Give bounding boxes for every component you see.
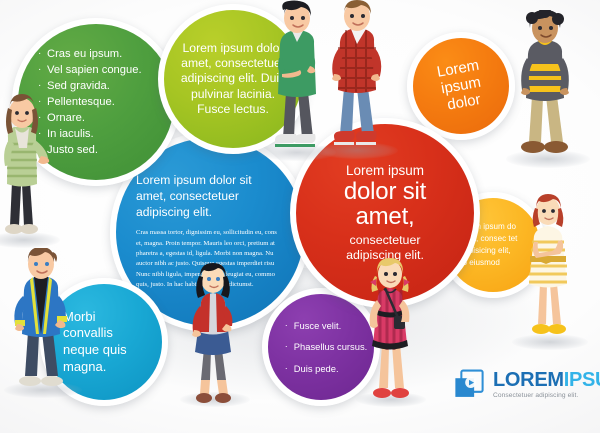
bullet-icon: · [38, 47, 42, 61]
character-boy-blue-jacket [6, 248, 76, 396]
bullet-icon: · [38, 63, 42, 77]
logo-word-first: LOREM [493, 369, 564, 391]
list-item: ·In iaculis. [38, 126, 166, 142]
list-item: ·Fusce velit. [285, 315, 367, 336]
bubble-red-line-2: dolor sit [310, 179, 460, 204]
bubble-cyan-line-1: Morbi [63, 309, 154, 326]
bubble-cyan-line-3: neque quis [63, 342, 154, 359]
character-boy-striped-sweater [508, 10, 582, 162]
character-girl-yellow-dress [516, 192, 580, 348]
character-girl-green-sweater [0, 86, 50, 238]
list-item-label: Pellentesque. [47, 96, 115, 108]
character-girl-pink-dress [358, 256, 422, 408]
bubble-cyan-line-2: convallis [63, 325, 154, 342]
character-boy-plaid-shirt [320, 0, 392, 154]
brand-logo[interactable]: LOREMIPSUM Consectetuer adipiscing elit. [452, 368, 600, 402]
list-item-label: Duis pede. [294, 363, 339, 374]
bubble-orange-text[interactable]: Lorem ipsum dolor [407, 32, 515, 140]
bubble-red-line-1: Lorem ipsum [310, 163, 460, 179]
list-item: ·Pellentesque. [38, 94, 166, 110]
character-girl-red-jacket [182, 262, 244, 408]
bubble-blue-heading: Lorem ipsum dolor sit amet, consectetuer… [136, 173, 284, 221]
list-item-label: In iaculis. [47, 128, 94, 140]
list-item: ·Vel sapien congue. [38, 62, 166, 78]
list-item-label: Justo sed. [47, 144, 98, 156]
bubble-cyan-line-4: magna. [63, 359, 154, 376]
bullet-icon: · [285, 315, 289, 335]
list-item: ·Sed gravida. [38, 78, 166, 94]
logo-wordmark: LOREMIPSUM [493, 370, 600, 390]
logo-tagline: Consectetuer adipiscing elit. [493, 393, 600, 400]
list-item-label: Cras eu ipsum. [47, 48, 122, 60]
list-item: ·Phasellus cursus. [285, 336, 367, 357]
logo-word-second: IPSUM [564, 369, 600, 391]
list-item-label: Sed gravida. [47, 80, 110, 92]
list-item-label: Phasellus cursus. [294, 341, 367, 352]
list-item: ·Cras eu ipsum. [38, 46, 166, 62]
bullet-icon: · [285, 336, 289, 356]
list-item: ·Ornare. [38, 110, 166, 126]
list-item-label: Fusce velit. [294, 320, 341, 331]
logo-mark-icon [452, 368, 486, 402]
list-item: ·Justo sed. [38, 142, 166, 158]
list-item-label: Vel sapien congue. [47, 64, 142, 76]
bubble-red-line-4: consectetuer [310, 233, 460, 248]
bubble-red-line-3: amet, [310, 204, 460, 229]
poster-canvas: ·Cras eu ipsum. ·Vel sapien congue. ·Sed… [0, 0, 600, 433]
list-item-label: Ornare. [47, 112, 85, 124]
bullet-icon: · [285, 358, 289, 378]
list-item: ·Duis pede. [285, 358, 367, 379]
